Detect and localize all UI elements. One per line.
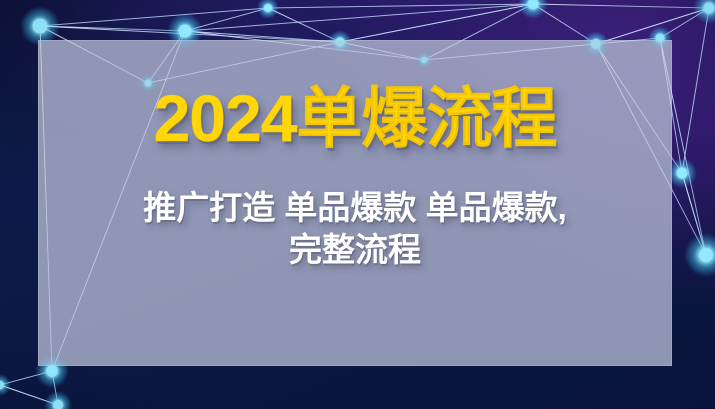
content-panel [38, 40, 672, 366]
cover-image-stage: 2024单爆流程 推广打造 单品爆款 单品爆款, 完整流程 [0, 0, 715, 409]
